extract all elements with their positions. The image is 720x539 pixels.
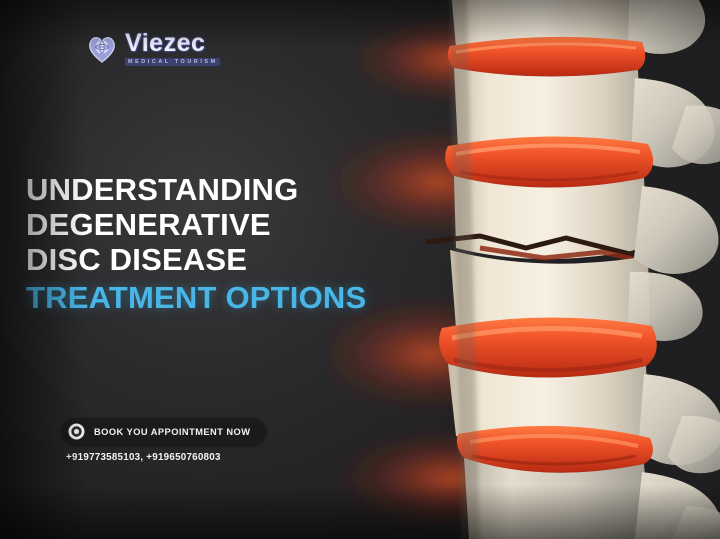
- promo-banner: Viezec MEDICAL TOURISM UNDERSTANDING DEG…: [0, 0, 720, 539]
- headline-block: UNDERSTANDING DEGENERATIVE DISC DISEASE …: [26, 172, 386, 315]
- intervertebral-disc-2: [445, 136, 653, 187]
- logo-tagline: MEDICAL TOURISM: [125, 58, 220, 66]
- cta-block: BOOK YOU APPOINTMENT NOW +919773585103, …: [62, 418, 266, 463]
- book-appointment-button[interactable]: BOOK YOU APPOINTMENT NOW: [62, 418, 266, 445]
- cta-label: BOOK YOU APPOINTMENT NOW: [94, 427, 250, 437]
- intervertebral-disc-1: [448, 37, 645, 77]
- heart-globe-icon: [86, 33, 118, 65]
- logo-brand-text: Viezec: [125, 31, 220, 56]
- lumbar-spine-illustration: [330, 0, 720, 539]
- headline-line-1: UNDERSTANDING: [26, 172, 386, 207]
- phone-numbers[interactable]: +919773585103, +919650760803: [62, 452, 266, 463]
- headline-line-3: DISC DISEASE: [26, 242, 386, 277]
- viezec-logo[interactable]: Viezec MEDICAL TOURISM: [86, 31, 220, 66]
- headline-line-2: DEGENERATIVE: [26, 207, 386, 242]
- target-dot-icon: [68, 423, 85, 440]
- headline-line-4-accent: TREATMENT OPTIONS: [26, 280, 386, 315]
